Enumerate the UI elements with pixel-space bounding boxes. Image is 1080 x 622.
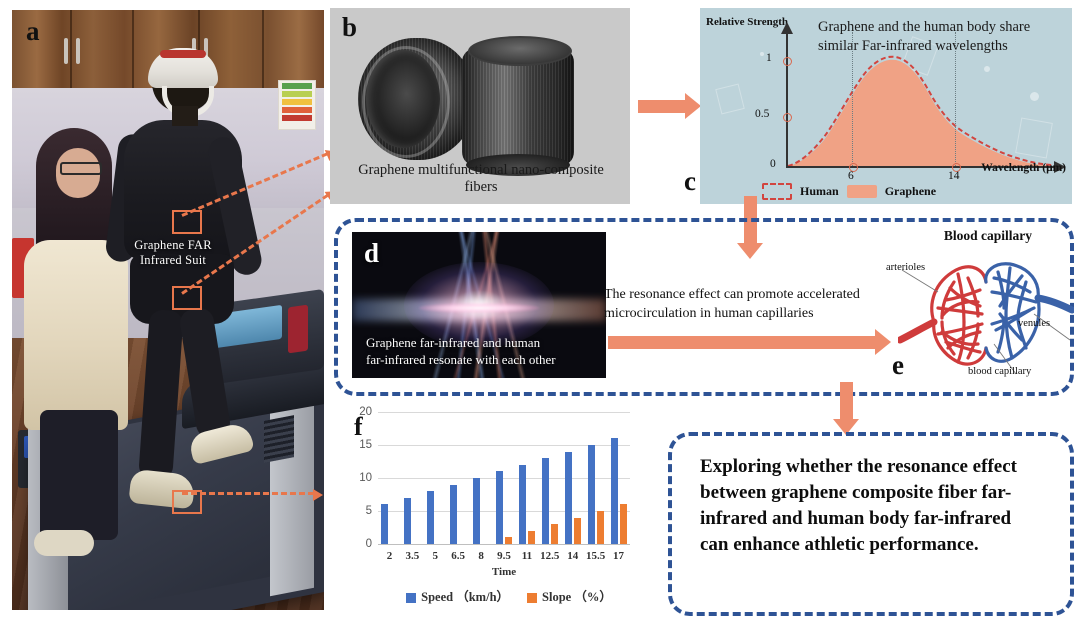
panel-f-bar-group bbox=[401, 412, 424, 544]
panel-c-ytick-1: 1 bbox=[766, 52, 772, 64]
bar-slope bbox=[574, 518, 581, 544]
panel-f-legend-slope: Slope （%） bbox=[527, 586, 612, 605]
panel-c-ytick-05: 0.5 bbox=[755, 108, 769, 120]
panel-label-c: c bbox=[684, 168, 696, 195]
legend-label-human: Human bbox=[800, 184, 839, 199]
resonance-description-line1: The resonance effect can promote acceler… bbox=[604, 285, 904, 304]
panel-f-bar-group bbox=[493, 412, 516, 544]
legend-swatch-graphene bbox=[847, 185, 877, 198]
bar-speed bbox=[611, 438, 618, 544]
resonance-core bbox=[419, 303, 539, 313]
bar-slope bbox=[597, 511, 604, 544]
panel-c-xtick-6: 6 bbox=[848, 170, 854, 182]
panel-f-bar-group bbox=[584, 412, 607, 544]
bar-slope bbox=[551, 524, 558, 544]
panel-f-ytick-5: 5 bbox=[366, 505, 372, 517]
panel-b-fibers: b Graphene multifunctional nano-composit… bbox=[330, 8, 630, 204]
panel-f-x-axis-title: Time bbox=[378, 566, 630, 578]
panel-f-xtick: 2 bbox=[378, 550, 401, 562]
panel-f-xtick: 8 bbox=[470, 550, 493, 562]
spectrum-curve bbox=[700, 8, 1072, 204]
panel-d-caption-line2: far-infrared resonate with each other bbox=[366, 351, 590, 368]
subject-headgear-strap bbox=[160, 50, 206, 58]
panel-e-label-venules: venules bbox=[1018, 318, 1050, 329]
arrow-d-to-e bbox=[608, 336, 876, 349]
panel-c-guide-6 bbox=[852, 32, 853, 166]
panel-f-x-tick-labels: 23.556.589.51112.51415.517 bbox=[378, 550, 630, 562]
panel-f-legend: Speed （km/h） Slope （%） bbox=[378, 586, 640, 605]
panel-f-bar-group bbox=[378, 412, 401, 544]
panel-e-title: Blood capillary bbox=[908, 228, 1068, 244]
panel-f-xtick: 9.5 bbox=[493, 550, 516, 562]
resonance-description: The resonance effect can promote acceler… bbox=[604, 285, 904, 323]
suit-label-line2: Infrared Suit bbox=[110, 253, 236, 268]
legend-swatch-speed bbox=[406, 593, 416, 603]
panel-f-ytick-10: 10 bbox=[359, 472, 372, 484]
bar-speed bbox=[519, 465, 526, 544]
bar-slope bbox=[620, 504, 627, 544]
panel-f-bar-group bbox=[538, 412, 561, 544]
panel-f-xtick: 6.5 bbox=[447, 550, 470, 562]
photo-scene bbox=[12, 10, 324, 610]
panel-f-plot-area: 0 5 10 15 20 23.556.589.51112.51415.517 bbox=[378, 412, 630, 544]
bar-speed bbox=[496, 471, 503, 544]
bar-speed bbox=[404, 498, 411, 544]
panel-f-xtick: 12.5 bbox=[538, 550, 561, 562]
panel-f-ytick-15: 15 bbox=[359, 439, 372, 451]
legend-swatch-human bbox=[762, 183, 792, 200]
treadmill-side-panel bbox=[288, 305, 308, 354]
panel-f-xtick: 17 bbox=[607, 550, 630, 562]
bar-speed bbox=[473, 478, 480, 544]
panel-a-photo: Graphene FAR Infrared Suit a bbox=[12, 10, 324, 610]
panel-f-bar-group bbox=[447, 412, 470, 544]
panel-f-bar-group bbox=[561, 412, 584, 544]
fiber-bobbin-left bbox=[358, 38, 476, 160]
panel-f-legend-speed: Speed （km/h） bbox=[406, 586, 509, 605]
bar-speed bbox=[542, 458, 549, 544]
panel-d-caption-line1: Graphene far-infrared and human bbox=[366, 334, 590, 351]
resonance-description-line2: microcirculation in human capillaries bbox=[604, 304, 904, 323]
panel-f-xtick: 14 bbox=[561, 550, 584, 562]
panel-f-xtick: 3.5 bbox=[401, 550, 424, 562]
treadmill-grip-right bbox=[264, 415, 294, 463]
panel-f-bar-group bbox=[515, 412, 538, 544]
researcher-coat bbox=[24, 240, 128, 430]
panel-d-resonance-image: d Graphene far-infrared and human far-in… bbox=[352, 232, 606, 378]
panel-f-xtick: 11 bbox=[515, 550, 538, 562]
fiber-bobbin-right bbox=[462, 48, 574, 166]
panel-f-exercise-protocol-chart: f 0 5 10 15 20 23.556.589.51112.51415.51… bbox=[332, 400, 660, 618]
panel-f-bar-group bbox=[470, 412, 493, 544]
panel-e-label-arterioles: arterioles bbox=[886, 262, 925, 273]
subject-neck bbox=[172, 106, 198, 126]
panel-f-bar-group bbox=[424, 412, 447, 544]
conclusion-text: Exploring whether the resonance effect b… bbox=[700, 454, 1030, 558]
panel-c-y-axis bbox=[786, 32, 788, 168]
legend-label-graphene: Graphene bbox=[885, 184, 936, 199]
bar-speed bbox=[427, 491, 434, 544]
wall-poster bbox=[278, 80, 316, 130]
conclusion-box: Exploring whether the resonance effect b… bbox=[668, 432, 1074, 616]
panel-f-bar-columns bbox=[378, 412, 630, 544]
researcher-trousers bbox=[40, 410, 118, 540]
bar-speed bbox=[588, 445, 595, 544]
researcher-shoe bbox=[34, 530, 94, 556]
panel-c-spectrum-chart: Graphene and the human body share simila… bbox=[700, 8, 1072, 204]
panel-e-label-blood-capillary: blood capillary bbox=[968, 366, 1031, 377]
bar-speed bbox=[450, 485, 457, 544]
panel-c-x-axis-label: Wavelength (μm) bbox=[981, 162, 1066, 174]
panel-b-caption: Graphene multifunctional nano-composite … bbox=[340, 162, 622, 196]
panel-c-legend: Human Graphene bbox=[762, 183, 936, 200]
arrow-e-to-conclusion bbox=[840, 382, 853, 420]
panel-c-xtick-14: 14 bbox=[948, 170, 960, 182]
y-axis-arrowhead-icon bbox=[780, 22, 796, 36]
callout-arrow-treadmill bbox=[182, 492, 314, 495]
suit-label-line1: Graphene FAR bbox=[110, 238, 236, 253]
panel-label-e: e bbox=[892, 352, 904, 379]
bar-slope bbox=[528, 531, 535, 544]
bar-slope bbox=[505, 537, 512, 544]
researcher-glasses bbox=[60, 162, 102, 175]
panel-label-a: a bbox=[26, 18, 40, 45]
bar-speed bbox=[565, 452, 572, 544]
arrow-b-to-c bbox=[638, 100, 686, 113]
panel-f-xtick: 5 bbox=[424, 550, 447, 562]
legend-swatch-slope bbox=[527, 593, 537, 603]
panel-label-b: b bbox=[342, 14, 357, 41]
panel-f-xtick: 15.5 bbox=[584, 550, 607, 562]
panel-f-ytick-20: 20 bbox=[359, 406, 372, 418]
panel-f-bar-group bbox=[607, 412, 630, 544]
panel-c-ytick-0: 0 bbox=[770, 158, 776, 170]
bar-speed bbox=[381, 504, 388, 544]
panel-f-ytick-0: 0 bbox=[366, 538, 372, 550]
panel-label-d: d bbox=[364, 240, 379, 267]
panel-c-guide-14 bbox=[955, 32, 956, 166]
